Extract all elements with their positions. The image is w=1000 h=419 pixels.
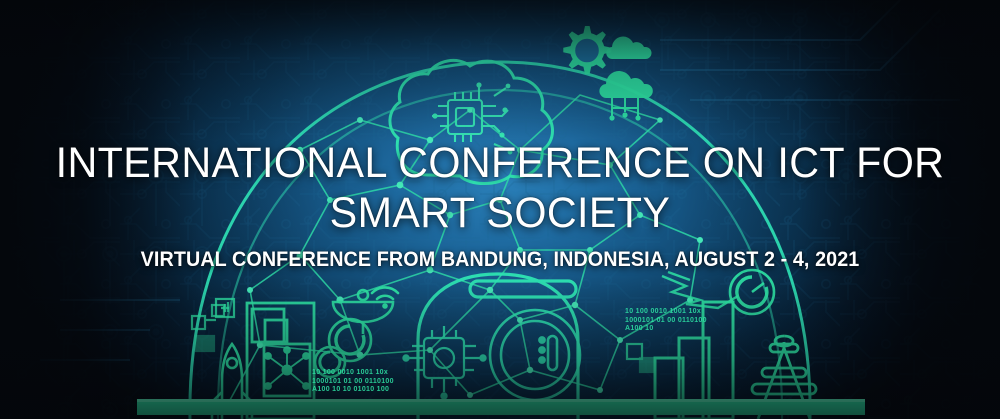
binary-line: A100 10 10 01010 100 bbox=[312, 386, 394, 395]
binary-line: A100 10 bbox=[625, 325, 707, 334]
conference-banner: 10 100 0010 1001 10x 1000101 01 00 01101… bbox=[0, 0, 1000, 419]
binary-line: 10 100 0010 1001 10x bbox=[625, 308, 707, 317]
binary-text-left: 10 100 0010 1001 10x 1000101 01 00 01101… bbox=[312, 369, 394, 395]
binary-text-right: 10 100 0010 1001 10x 1000101 01 00 01101… bbox=[625, 308, 707, 334]
background-vignette-vertical bbox=[0, 0, 1000, 419]
binary-line: 1000101 01 00 0110100 bbox=[312, 378, 394, 387]
binary-line: 1000101 01 00 0110100 bbox=[625, 317, 707, 326]
binary-line: 10 100 0010 1001 10x bbox=[312, 369, 394, 378]
